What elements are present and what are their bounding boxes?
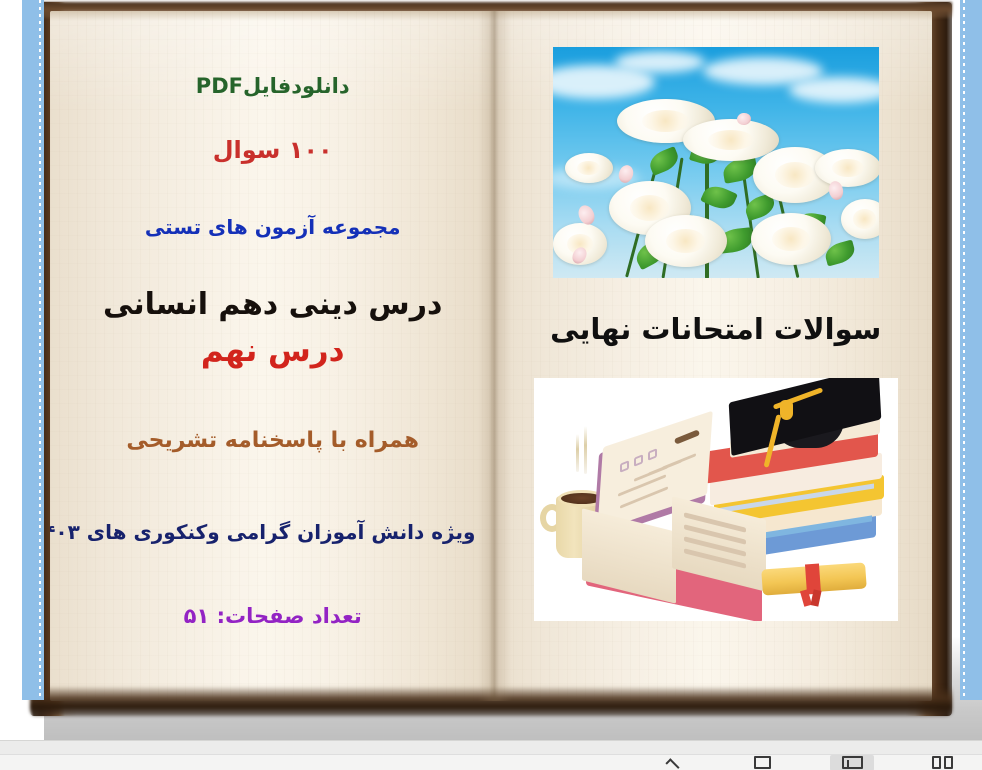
single-page-icon bbox=[754, 756, 771, 769]
books-graduation-cap-illustration bbox=[534, 378, 898, 621]
toolbar-button-group bbox=[0, 754, 982, 770]
selection-border-left[interactable] bbox=[22, 0, 44, 700]
selection-dots-right bbox=[963, 0, 965, 700]
scroll-up-button[interactable] bbox=[650, 755, 694, 770]
download-pdf-label: دانلودفایلPDF bbox=[70, 73, 475, 99]
viewer-toolbar bbox=[0, 740, 982, 770]
subject-title: درس دینی دهم انسانی bbox=[70, 286, 475, 324]
left-page: دانلودفایلPDF ۱۰۰ سوال مجموعه آزمون های … bbox=[50, 11, 495, 701]
pdf-viewer-canvas[interactable]: دانلودفایلPDF ۱۰۰ سوال مجموعه آزمون های … bbox=[0, 0, 982, 740]
open-book: دانلودفایلPDF ۱۰۰ سوال مجموعه آزمون های … bbox=[30, 2, 952, 716]
white-roses-sky-photo bbox=[553, 47, 879, 278]
app-root: دانلودفایلPDF ۱۰۰ سوال مجموعه آزمون های … bbox=[0, 0, 982, 770]
question-count-label: ۱۰۰ سوال bbox=[70, 135, 475, 165]
download-label-latin: PDF bbox=[196, 74, 243, 98]
page-count-label: تعداد صفحات: ۵۱ bbox=[70, 603, 475, 629]
collection-label: مجموعه آزمون های تستی bbox=[70, 215, 475, 240]
two-page-spread-icon bbox=[932, 756, 953, 769]
right-page-heading: سوالات امتحانات نهایی bbox=[550, 312, 881, 346]
page-with-sidebar-view-button[interactable] bbox=[830, 755, 874, 770]
left-page-content: دانلودفایلPDF ۱۰۰ سوال مجموعه آزمون های … bbox=[50, 11, 495, 701]
selection-dots-left bbox=[39, 0, 41, 700]
download-label-rtl: دانلودفایل bbox=[243, 74, 350, 98]
audience-label: ویژه دانش آموزان گرامی وکنکوری های ۱۴۰۳ bbox=[70, 520, 475, 545]
page-with-sidebar-icon bbox=[842, 756, 863, 769]
right-page: سوالات امتحانات نهایی bbox=[495, 11, 932, 701]
book-pages: دانلودفایلPDF ۱۰۰ سوال مجموعه آزمون های … bbox=[50, 11, 932, 701]
answers-note-label: همراه با پاسخنامه تشریحی bbox=[70, 427, 475, 455]
selection-border-right[interactable] bbox=[960, 0, 982, 700]
right-page-content: سوالات امتحانات نهایی bbox=[495, 11, 932, 701]
lesson-title: درس نهم bbox=[70, 332, 475, 371]
scroll-up-icon bbox=[665, 758, 679, 770]
single-page-view-button[interactable] bbox=[740, 755, 784, 770]
two-page-spread-view-button[interactable] bbox=[920, 755, 964, 770]
